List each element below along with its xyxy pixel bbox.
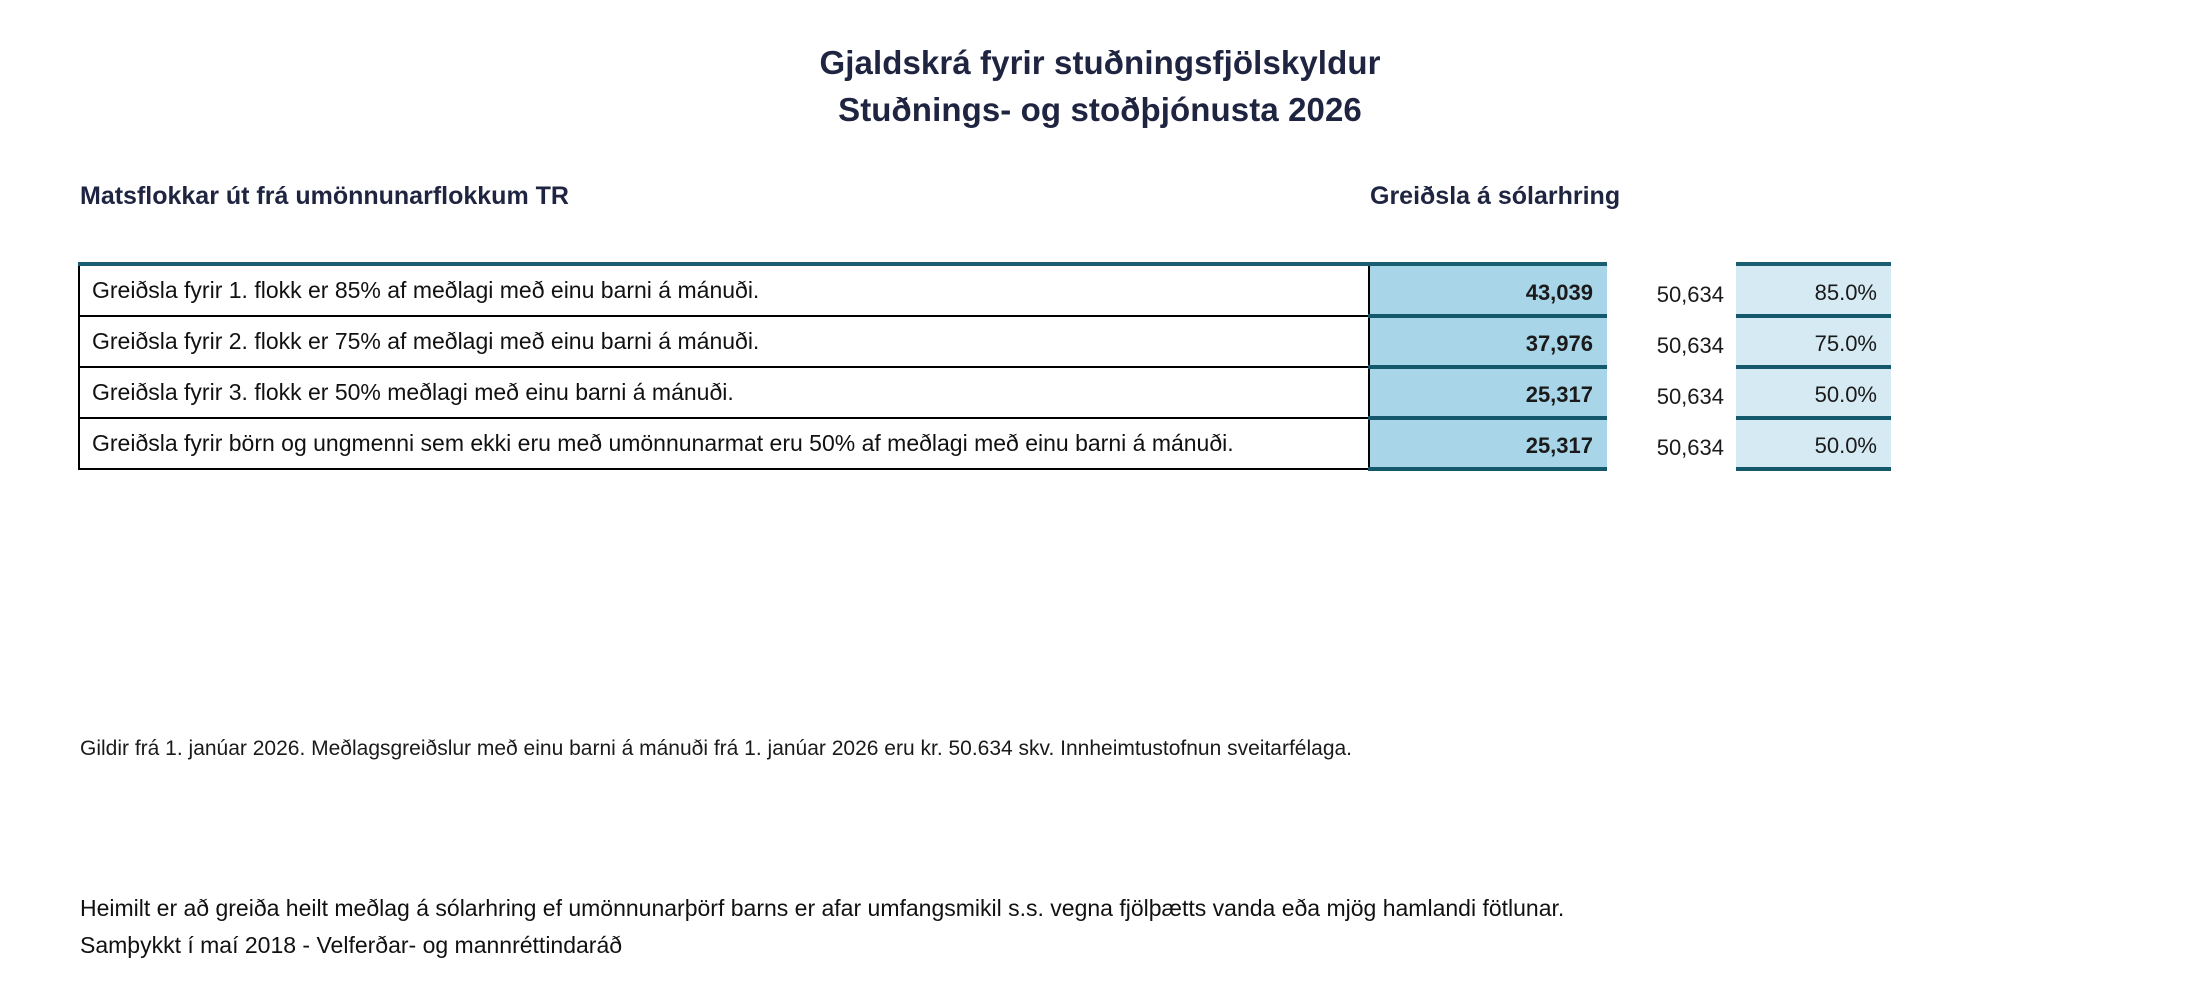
table-row: Greiðsla fyrir 3. flokk er 50% meðlagi m… <box>79 367 2147 418</box>
row-amount: 25,317 <box>1369 367 1607 418</box>
row-amount: 25,317 <box>1369 418 1607 469</box>
row-amount: 43,039 <box>1369 264 1607 316</box>
table-row: Greiðsla fyrir 1. flokk er 85% af meðlag… <box>79 264 2147 316</box>
row-spacer <box>1607 418 1614 469</box>
fee-table-body: Greiðsla fyrir 1. flokk er 85% af meðlag… <box>79 264 2147 469</box>
row-base-amount: 50,634 <box>1614 316 1726 367</box>
footer-note-line-2: Samþykkt í maí 2018 - Velferðar- og mann… <box>80 927 1564 964</box>
row-spacer <box>1607 367 1614 418</box>
page-title-line-1: Gjaldskrá fyrir stuðningsfjölskyldur <box>0 40 2200 87</box>
row-tail <box>1891 316 2147 367</box>
row-description: Greiðsla fyrir börn og ungmenni sem ekki… <box>79 418 1369 469</box>
row-description: Greiðsla fyrir 2. flokk er 75% af meðlag… <box>79 316 1369 367</box>
row-spacer <box>1607 264 1614 316</box>
column-header-description: Matsflokkar út frá umönnunarflokkum TR <box>80 182 569 211</box>
row-tail <box>1891 418 2147 469</box>
row-spacer-2 <box>1726 367 1736 418</box>
row-percent: 85.0% <box>1736 264 1891 316</box>
page-title: Gjaldskrá fyrir stuðningsfjölskyldur Stu… <box>0 0 2200 134</box>
row-spacer <box>1607 316 1614 367</box>
row-description: Greiðsla fyrir 3. flokk er 50% meðlagi m… <box>79 367 1369 418</box>
fee-table-wrapper: Greiðsla fyrir 1. flokk er 85% af meðlag… <box>78 262 2146 471</box>
row-base-amount: 50,634 <box>1614 367 1726 418</box>
row-spacer-2 <box>1726 264 1736 316</box>
row-base-amount: 50,634 <box>1614 264 1726 316</box>
footer-note-line-1: Heimilt er að greiða heilt meðlag á sóla… <box>80 890 1564 927</box>
fee-table: Greiðsla fyrir 1. flokk er 85% af meðlag… <box>78 262 2148 471</box>
row-description: Greiðsla fyrir 1. flokk er 85% af meðlag… <box>79 264 1369 316</box>
table-row: Greiðsla fyrir börn og ungmenni sem ekki… <box>79 418 2147 469</box>
column-header-amount: Greiðsla á sólarhring <box>1370 182 1620 211</box>
row-percent: 75.0% <box>1736 316 1891 367</box>
row-spacer-2 <box>1726 418 1736 469</box>
footer-notes: Heimilt er að greiða heilt meðlag á sóla… <box>80 890 1564 965</box>
row-tail <box>1891 264 2147 316</box>
row-tail <box>1891 367 2147 418</box>
row-spacer-2 <box>1726 316 1736 367</box>
row-base-amount: 50,634 <box>1614 418 1726 469</box>
page-title-line-2: Stuðnings- og stoðþjónusta 2026 <box>0 87 2200 134</box>
row-amount: 37,976 <box>1369 316 1607 367</box>
table-row: Greiðsla fyrir 2. flokk er 75% af meðlag… <box>79 316 2147 367</box>
table-column-headers: Matsflokkar út frá umönnunarflokkum TR G… <box>0 134 2200 222</box>
source-note: Gildir frá 1. janúar 2026. Meðlagsgreiðs… <box>80 733 1352 765</box>
fee-schedule-page: Gjaldskrá fyrir stuðningsfjölskyldur Stu… <box>0 0 2200 1000</box>
row-percent: 50.0% <box>1736 367 1891 418</box>
row-percent: 50.0% <box>1736 418 1891 469</box>
